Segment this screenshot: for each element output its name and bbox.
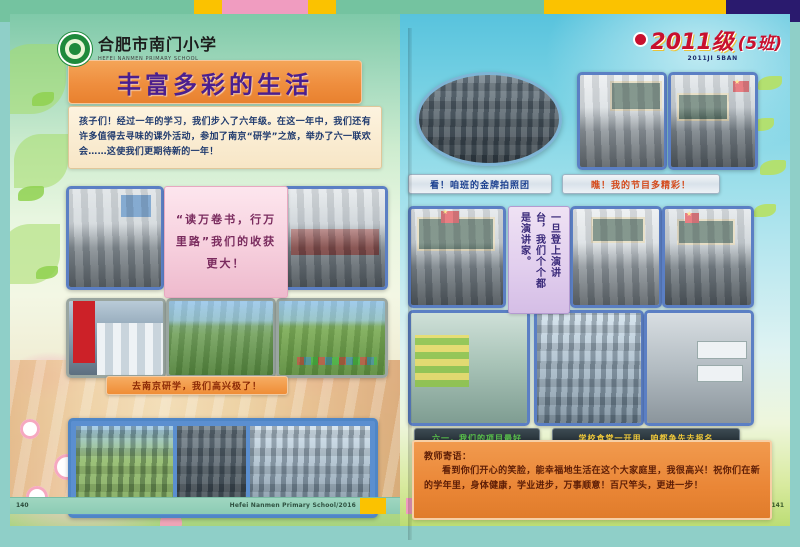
teacher-note-title: 教师寄语：	[424, 449, 760, 462]
leaf-decor	[754, 204, 776, 217]
caption-photo-team: 看！咱班的金牌拍照团	[408, 174, 552, 194]
footer-credit-left: Hefei Nanmen Primary School/2016	[230, 502, 356, 509]
bullet-icon	[633, 32, 648, 47]
quote-vertical-panel: 一旦登上演讲台，我们个个都是演讲家。	[508, 206, 570, 314]
page-title-banner: 丰富多彩的生活	[68, 60, 362, 104]
photo-image	[279, 301, 385, 375]
blackboard-decor	[677, 93, 729, 121]
photo-class-listening	[662, 206, 754, 308]
flower-decor	[20, 419, 40, 439]
blackboard-decor	[677, 219, 735, 245]
leaf-decor	[758, 76, 782, 90]
intro-panel: 孩子们！经过一年的学习，我们步入了六年级。在这一年中，我们还有许多值得去寻味的课…	[68, 106, 382, 169]
photo-image	[573, 209, 659, 305]
photo-violin-performance	[577, 72, 667, 170]
leaf-decor	[18, 186, 44, 201]
photo-image	[411, 209, 503, 305]
caption-text: 瞧！我的节目多精彩！	[591, 178, 691, 191]
teacher-note-panel: 教师寄语： 看到你们开心的笑脸，能幸福地生活在这个大家庭里，我很高兴！祝你们在新…	[412, 440, 772, 520]
photo-image	[580, 75, 664, 167]
photo-image	[69, 189, 161, 287]
caption-performance: 瞧！我的节目多精彩！	[562, 174, 720, 194]
photo-image	[419, 75, 559, 163]
teacher-note-body: 看到你们开心的笑脸，能幸福地生活在这个大家庭里，我很高兴！祝你们在新的学年里，身…	[424, 464, 760, 494]
leaf-decor	[36, 266, 58, 279]
photo-stage-dance	[668, 72, 758, 170]
photo-red-flag-group	[66, 298, 166, 378]
quote-vertical-text: 一旦登上演讲台，我们个个都是演讲家。	[517, 212, 562, 296]
grade-banner: 2011级(5班) 2011JI 5BAN	[633, 32, 782, 62]
flag-icon	[685, 213, 699, 223]
photo-image	[647, 313, 751, 423]
caption-text: 去南京研学，我们高兴极了！	[132, 379, 262, 392]
blackboard-decor	[610, 81, 662, 111]
intro-text: 孩子们！经过一年的学习，我们步入了六年级。在这一年中，我们还有许多值得去寻味的课…	[79, 115, 371, 160]
page-gutter	[408, 28, 412, 540]
photo-lunch-trays	[644, 310, 754, 426]
caption-nanjing-trip: 去南京研学，我们高兴极了！	[106, 376, 288, 395]
footer-left: 140 Hefei Nanmen Primary School/2016	[10, 497, 400, 514]
class-label: (5班)	[738, 36, 782, 53]
photo-field-activity	[166, 298, 276, 378]
photo-image	[69, 301, 163, 375]
photo-canteen-queue	[534, 310, 644, 426]
school-name-cn: 合肥市南门小学	[98, 37, 217, 53]
grade-pinyin: 2011JI 5BAN	[633, 55, 738, 62]
school-name-en: HEFEI NANMEN PRIMARY SCHOOL	[98, 56, 217, 62]
photo-students-lined-up	[66, 186, 164, 290]
page-title: 丰富多彩的生活	[117, 65, 313, 100]
photo-classroom-screen	[408, 206, 506, 308]
photo-oval-class-shot	[416, 72, 562, 166]
page-number-right: 141	[771, 502, 784, 509]
flag-icon	[441, 211, 459, 223]
grade-label: 2011级	[650, 30, 733, 55]
leaf-decor	[14, 134, 68, 188]
photo-image	[671, 75, 755, 167]
right-page: 2011级(5班) 2011JI 5BAN	[400, 14, 790, 526]
flag-icon	[733, 81, 749, 92]
yearbook-spread: 合肥市南门小学 HEFEI NANMEN PRIMARY SCHOOL 丰富多彩…	[0, 0, 800, 547]
page-number-left: 140	[16, 502, 29, 509]
left-page: 合肥市南门小学 HEFEI NANMEN PRIMARY SCHOOL 丰富多彩…	[10, 14, 400, 526]
school-crest-icon	[58, 32, 92, 66]
photo-outdoor-game	[276, 298, 388, 378]
photo-image	[411, 313, 527, 423]
quote-text: “读万卷书，行万里路”我们的收获更大！	[171, 209, 281, 275]
blackboard-decor	[591, 217, 645, 243]
grade-label-wrap: 2011级(5班)	[633, 32, 782, 54]
photo-image	[285, 189, 385, 287]
photo-image	[537, 313, 641, 423]
school-identity: 合肥市南门小学 HEFEI NANMEN PRIMARY SCHOOL	[58, 32, 217, 66]
footer-swatch-left	[360, 498, 386, 514]
quote-panel: “读万卷书，行万里路”我们的收获更大！	[164, 186, 288, 298]
bottom-bar	[0, 533, 800, 547]
photo-lecture-hall	[570, 206, 662, 308]
leaf-decor	[760, 160, 786, 175]
photo-image	[169, 301, 273, 375]
page-spread: 合肥市南门小学 HEFEI NANMEN PRIMARY SCHOOL 丰富多彩…	[10, 14, 790, 526]
blackboard-decor	[417, 217, 495, 251]
caption-text: 看！咱班的金牌拍照团	[430, 178, 530, 191]
photo-reading-corner	[408, 310, 530, 426]
photo-award-certificates	[282, 186, 388, 290]
photo-image	[665, 209, 751, 305]
